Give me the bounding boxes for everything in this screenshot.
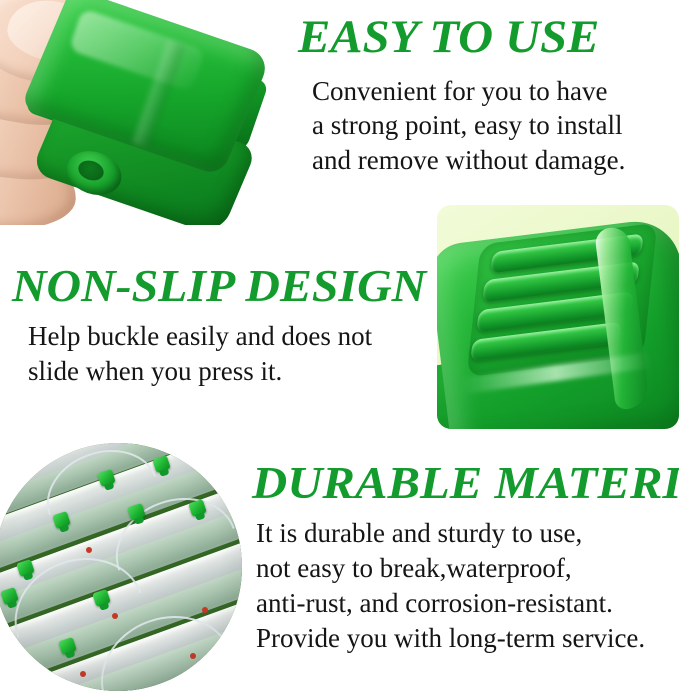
section-body-line: not easy to break,waterproof, bbox=[256, 555, 572, 582]
ribbed-grip-macro-photo bbox=[437, 205, 679, 429]
section-body-line: Provide you with long-term service. bbox=[256, 625, 645, 652]
strawberry-field-row-cover-photo bbox=[0, 443, 242, 691]
hand-holding-green-clip-photo bbox=[0, 0, 282, 225]
infographic-page: EASY TO USE Convenient for you to have a… bbox=[0, 0, 679, 684]
strawberry bbox=[80, 671, 86, 677]
section-body-line: anti-rust, and corrosion-resistant. bbox=[256, 590, 613, 617]
section-heading-easy-to-use: EASY TO USE bbox=[298, 14, 599, 61]
section-body-line: Help buckle easily and does not bbox=[28, 323, 372, 350]
strawberry bbox=[190, 653, 196, 659]
section-body-line: Convenient for you to have bbox=[312, 78, 607, 105]
strawberry bbox=[112, 613, 118, 619]
strawberry bbox=[202, 607, 208, 613]
section-heading-durable-material: DURABLE MATERIAL bbox=[252, 460, 679, 506]
section-body-line: a strong point, easy to install bbox=[312, 112, 622, 139]
section-heading-non-slip-design: NON-SLIP DESIGN bbox=[12, 263, 426, 309]
section-body-line: and remove without damage. bbox=[312, 147, 625, 174]
strawberry bbox=[86, 547, 92, 553]
section-body-line: slide when you press it. bbox=[28, 358, 282, 385]
section-body-line: It is durable and sturdy to use, bbox=[256, 520, 582, 547]
